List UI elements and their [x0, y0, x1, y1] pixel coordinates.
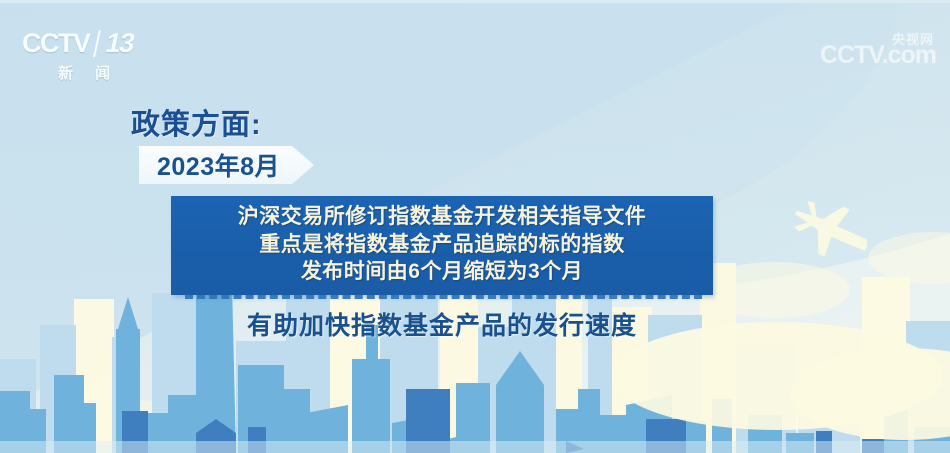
date-badge: 2023年8月	[139, 146, 314, 184]
airplane-icon	[788, 198, 874, 262]
logo-main-text: CCTV	[22, 28, 90, 58]
dashed-divider	[185, 295, 702, 299]
callout-line-3: 发布时间由6个月缩短为3个月	[181, 258, 703, 286]
callout-line-1: 沪深交易所修订指数基金开发相关指导文件	[181, 203, 703, 231]
callout-line-2: 重点是将指数基金产品追踪的标的指数	[181, 231, 703, 259]
date-badge-label: 2023年8月	[157, 147, 280, 183]
cctv13-logo-icon: CCTV13 新 闻	[22, 30, 192, 90]
conclusion-text: 有助加快指数基金产品的发行速度	[171, 306, 713, 342]
logo-wordmark: CCTV13	[22, 30, 192, 57]
logo-channel-number: 13	[93, 30, 142, 57]
news-graphic-stage: CCTV13 新 闻 央视网 CCTV.com 政策方面: 2023年8月 沪深…	[0, 0, 950, 453]
top-edge-line	[0, 0, 950, 3]
page-title: 政策方面:	[131, 101, 262, 143]
policy-callout-box: 沪深交易所修订指数基金开发相关指导文件 重点是将指数基金产品追踪的标的指数 发布…	[171, 196, 713, 295]
logo-subtitle: 新 闻	[58, 62, 192, 83]
